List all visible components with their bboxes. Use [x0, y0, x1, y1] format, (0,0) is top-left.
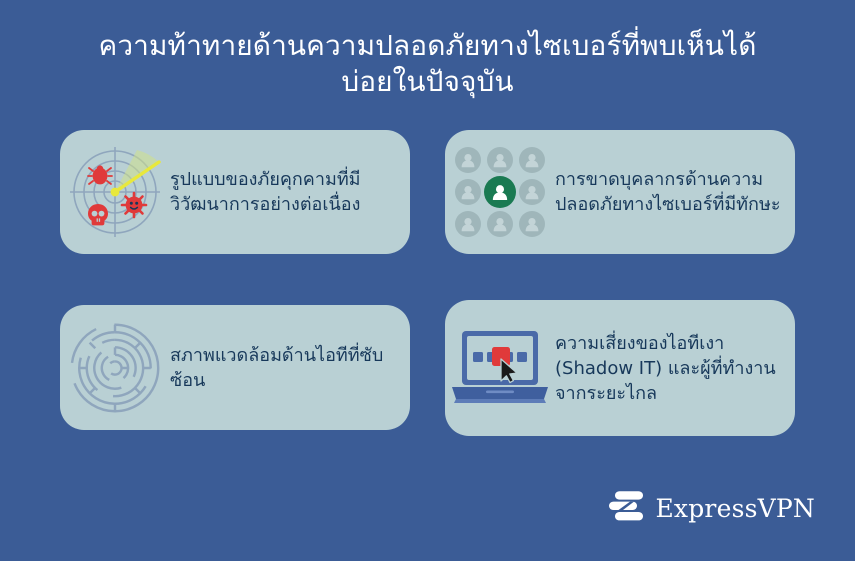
brand-name: ExpressVPN [655, 494, 815, 523]
radar-threats-icon [60, 130, 170, 254]
card-skills-shortage: การขาดบุคลากรด้านความปลอดภัยทางไซเบอร์ที… [445, 130, 795, 254]
card-complex-it: สภาพแวดล้อมด้านไอทีที่ซับซ้อน [60, 305, 410, 430]
brand-logo: ExpressVPN [608, 489, 815, 527]
card-evolving-threats-text: รูปแบบของภัยคุกคามที่มีวิวัฒนาการอย่างต่… [170, 167, 410, 217]
expressvpn-e-mark-icon [608, 489, 644, 527]
people-grid-icon [445, 130, 555, 254]
card-complex-it-text: สภาพแวดล้อมด้านไอทีที่ซับซ้อน [170, 343, 410, 393]
card-shadow-it-text: ความเสี่ยงของไอทีเงา (Shadow IT) และผู้ท… [555, 331, 795, 406]
page-title: ความท้าทายด้านความปลอดภัยทางไซเบอร์ที่พบ… [95, 28, 760, 100]
infographic-canvas: ความท้าทายด้านความปลอดภัยทางไซเบอร์ที่พบ… [0, 0, 855, 561]
maze-icon [60, 305, 170, 430]
card-shadow-it: ความเสี่ยงของไอทีเงา (Shadow IT) และผู้ท… [445, 300, 795, 436]
card-skills-shortage-text: การขาดบุคลากรด้านความปลอดภัยทางไซเบอร์ที… [555, 167, 795, 217]
card-evolving-threats: รูปแบบของภัยคุกคามที่มีวิวัฒนาการอย่างต่… [60, 130, 410, 254]
laptop-cursor-icon [445, 300, 555, 436]
